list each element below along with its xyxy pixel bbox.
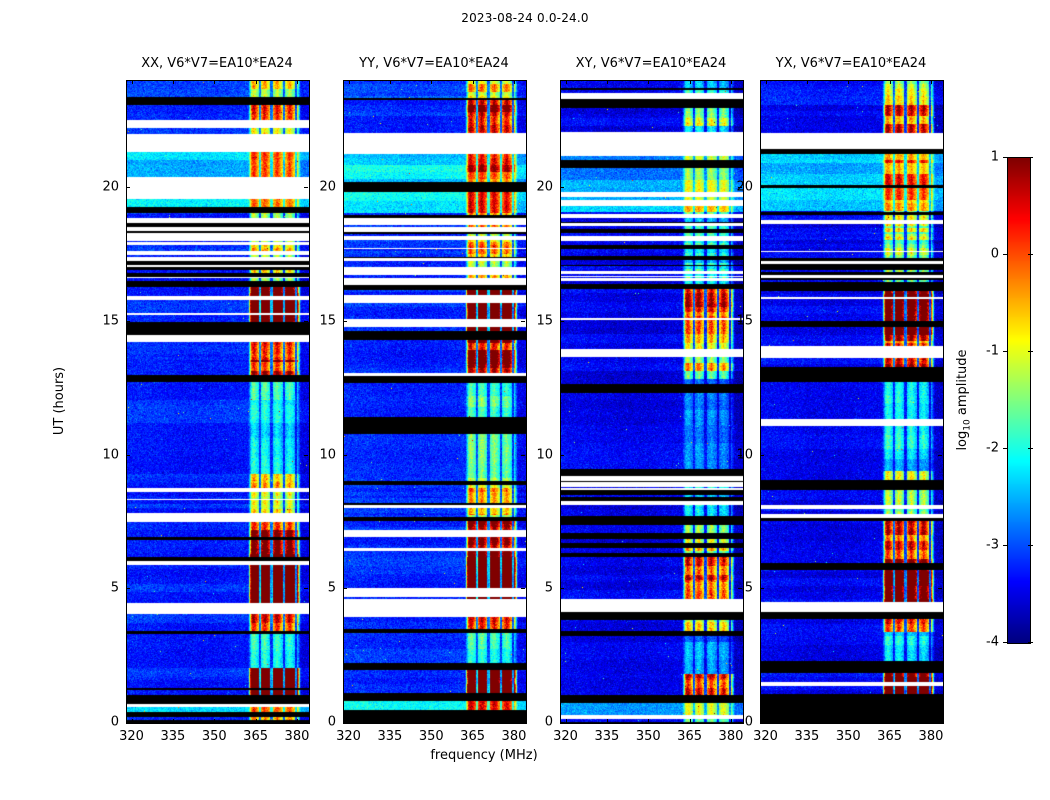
- y-tick-mark: [560, 455, 564, 456]
- x-tick-mark: [648, 80, 649, 84]
- x-tick-label: 335: [160, 729, 185, 744]
- spectrogram-canvas-yx: [761, 81, 943, 723]
- subplot-title-yx: YX, V6*V7=EA10*EA24: [776, 56, 927, 71]
- spectrogram-canvas-yy: [344, 81, 526, 723]
- subplot-title-xy: XY, V6*V7=EA10*EA24: [576, 56, 727, 71]
- y-tick-mark: [760, 321, 764, 322]
- y-tick-mark: [343, 321, 347, 322]
- y-tick-label: 5: [720, 581, 753, 596]
- x-tick-mark: [431, 719, 432, 723]
- y-tick-label: 0: [86, 715, 119, 730]
- subplot-xy: XY, V6*V7=EA10*EA24320335350365380051015…: [560, 80, 742, 722]
- colorbar-tick-mark: [1003, 351, 1008, 352]
- y-tick-mark: [938, 321, 942, 322]
- x-tick-mark: [766, 719, 767, 723]
- y-tick-label: 10: [520, 447, 553, 462]
- x-tick-label: 365: [460, 729, 485, 744]
- x-tick-label: 350: [636, 729, 661, 744]
- x-tick-label: 365: [677, 729, 702, 744]
- x-tick-mark: [890, 80, 891, 84]
- colorbar-label-sub: 10: [963, 419, 973, 430]
- y-tick-mark: [760, 455, 764, 456]
- y-tick-mark: [938, 722, 942, 723]
- spectrogram-xy: [560, 80, 744, 724]
- y-tick-mark: [560, 321, 564, 322]
- x-tick-mark: [132, 80, 133, 84]
- x-tick-mark: [473, 80, 474, 84]
- x-tick-label: 320: [553, 729, 578, 744]
- y-tick-label: 20: [86, 180, 119, 195]
- colorbar-label: log10 amplitude: [955, 349, 973, 450]
- y-tick-mark: [126, 588, 130, 589]
- x-tick-mark: [390, 719, 391, 723]
- y-tick-label: 10: [303, 447, 336, 462]
- y-tick-mark: [560, 588, 564, 589]
- colorbar-tick-mark: [1003, 448, 1008, 449]
- y-tick-mark: [343, 588, 347, 589]
- x-tick-mark: [514, 719, 515, 723]
- spectrogram-yy: [343, 80, 527, 724]
- x-tick-mark: [648, 719, 649, 723]
- x-axis-label: frequency (MHz): [430, 748, 537, 763]
- x-tick-mark: [766, 80, 767, 84]
- y-tick-mark: [938, 455, 942, 456]
- x-tick-mark: [931, 719, 932, 723]
- x-tick-label: 380: [719, 729, 744, 744]
- x-tick-mark: [349, 719, 350, 723]
- figure-root: 2023-08-24 0.0-24.0 XX, V6*V7=EA10*EA243…: [0, 0, 1050, 800]
- y-tick-label: 15: [303, 313, 336, 328]
- x-tick-mark: [256, 80, 257, 84]
- y-tick-mark: [126, 455, 130, 456]
- x-tick-mark: [566, 719, 567, 723]
- colorbar-tick-mark: [1028, 351, 1033, 352]
- x-tick-mark: [514, 80, 515, 84]
- x-tick-mark: [690, 719, 691, 723]
- y-tick-label: 20: [303, 180, 336, 195]
- x-tick-label: 365: [877, 729, 902, 744]
- colorbar-tick-mark: [1028, 642, 1033, 643]
- subplot-yx: YX, V6*V7=EA10*EA24320335350365380051015…: [760, 80, 942, 722]
- y-tick-mark: [126, 722, 130, 723]
- x-tick-label: 350: [419, 729, 444, 744]
- colorbar-label-prefix: log: [955, 430, 970, 450]
- x-tick-mark: [349, 80, 350, 84]
- colorbar: [1007, 157, 1031, 644]
- x-tick-mark: [690, 80, 691, 84]
- subplot-xx: XX, V6*V7=EA10*EA24320335350365380051015…: [126, 80, 308, 722]
- x-tick-mark: [890, 719, 891, 723]
- x-tick-label: 320: [753, 729, 778, 744]
- y-tick-mark: [938, 588, 942, 589]
- x-tick-mark: [848, 719, 849, 723]
- x-tick-mark: [132, 719, 133, 723]
- colorbar-tick-label: -3: [963, 538, 999, 553]
- x-tick-label: 380: [285, 729, 310, 744]
- x-tick-mark: [297, 80, 298, 84]
- colorbar-gradient: [1008, 158, 1030, 643]
- y-tick-label: 15: [86, 313, 119, 328]
- y-tick-label: 5: [520, 581, 553, 596]
- subplot-title-xx: XX, V6*V7=EA10*EA24: [141, 56, 293, 71]
- x-tick-label: 350: [836, 729, 861, 744]
- x-tick-mark: [173, 80, 174, 84]
- colorbar-tick-label: 0: [963, 247, 999, 262]
- y-tick-label: 10: [86, 447, 119, 462]
- x-tick-mark: [173, 719, 174, 723]
- y-tick-mark: [343, 722, 347, 723]
- x-tick-label: 335: [594, 729, 619, 744]
- y-tick-label: 5: [86, 581, 119, 596]
- x-tick-label: 350: [202, 729, 227, 744]
- x-tick-label: 380: [919, 729, 944, 744]
- colorbar-tick-mark: [1003, 157, 1008, 158]
- x-tick-mark: [607, 80, 608, 84]
- y-tick-mark: [126, 321, 130, 322]
- colorbar-tick-mark: [1003, 254, 1008, 255]
- colorbar-tick-mark: [1028, 545, 1033, 546]
- y-tick-label: 20: [720, 180, 753, 195]
- x-tick-mark: [390, 80, 391, 84]
- colorbar-tick-mark: [1028, 157, 1033, 158]
- x-tick-mark: [256, 719, 257, 723]
- y-tick-mark: [938, 187, 942, 188]
- y-tick-label: 15: [720, 313, 753, 328]
- x-tick-label: 320: [336, 729, 361, 744]
- colorbar-tick-mark: [1028, 254, 1033, 255]
- y-tick-label: 15: [520, 313, 553, 328]
- x-tick-mark: [807, 80, 808, 84]
- spectrogram-xx: [126, 80, 310, 724]
- x-tick-label: 380: [502, 729, 527, 744]
- y-tick-label: 0: [520, 715, 553, 730]
- x-tick-mark: [473, 719, 474, 723]
- subplot-title-yy: YY, V6*V7=EA10*EA24: [359, 56, 509, 71]
- colorbar-tick-mark: [1028, 448, 1033, 449]
- subplot-yy: YY, V6*V7=EA10*EA24320335350365380051015…: [343, 80, 525, 722]
- x-tick-mark: [931, 80, 932, 84]
- x-tick-mark: [807, 719, 808, 723]
- spectrogram-canvas-xy: [561, 81, 743, 723]
- x-tick-label: 335: [377, 729, 402, 744]
- colorbar-label-suffix: amplitude: [955, 349, 970, 419]
- y-tick-label: 5: [303, 581, 336, 596]
- x-tick-mark: [214, 80, 215, 84]
- spectrogram-canvas-xx: [127, 81, 309, 723]
- x-tick-mark: [214, 719, 215, 723]
- y-tick-mark: [560, 187, 564, 188]
- x-tick-mark: [566, 80, 567, 84]
- colorbar-tick-mark: [1003, 642, 1008, 643]
- colorbar-tick-label: 1: [963, 150, 999, 165]
- figure-suptitle: 2023-08-24 0.0-24.0: [0, 11, 1050, 25]
- colorbar-tick-mark: [1003, 545, 1008, 546]
- x-tick-label: 335: [794, 729, 819, 744]
- x-tick-mark: [731, 80, 732, 84]
- y-tick-mark: [343, 455, 347, 456]
- y-tick-label: 20: [520, 180, 553, 195]
- y-axis-label: UT (hours): [52, 367, 67, 435]
- x-tick-mark: [431, 80, 432, 84]
- x-tick-label: 320: [119, 729, 144, 744]
- y-tick-mark: [560, 722, 564, 723]
- y-tick-label: 10: [720, 447, 753, 462]
- y-tick-mark: [760, 187, 764, 188]
- y-tick-mark: [343, 187, 347, 188]
- y-tick-mark: [760, 722, 764, 723]
- y-tick-label: 0: [720, 715, 753, 730]
- x-tick-label: 365: [243, 729, 268, 744]
- y-tick-mark: [126, 187, 130, 188]
- x-tick-mark: [297, 719, 298, 723]
- y-tick-label: 0: [303, 715, 336, 730]
- colorbar-tick-label: -4: [963, 635, 999, 650]
- y-tick-mark: [760, 588, 764, 589]
- x-tick-mark: [848, 80, 849, 84]
- x-tick-mark: [607, 719, 608, 723]
- spectrogram-yx: [760, 80, 944, 724]
